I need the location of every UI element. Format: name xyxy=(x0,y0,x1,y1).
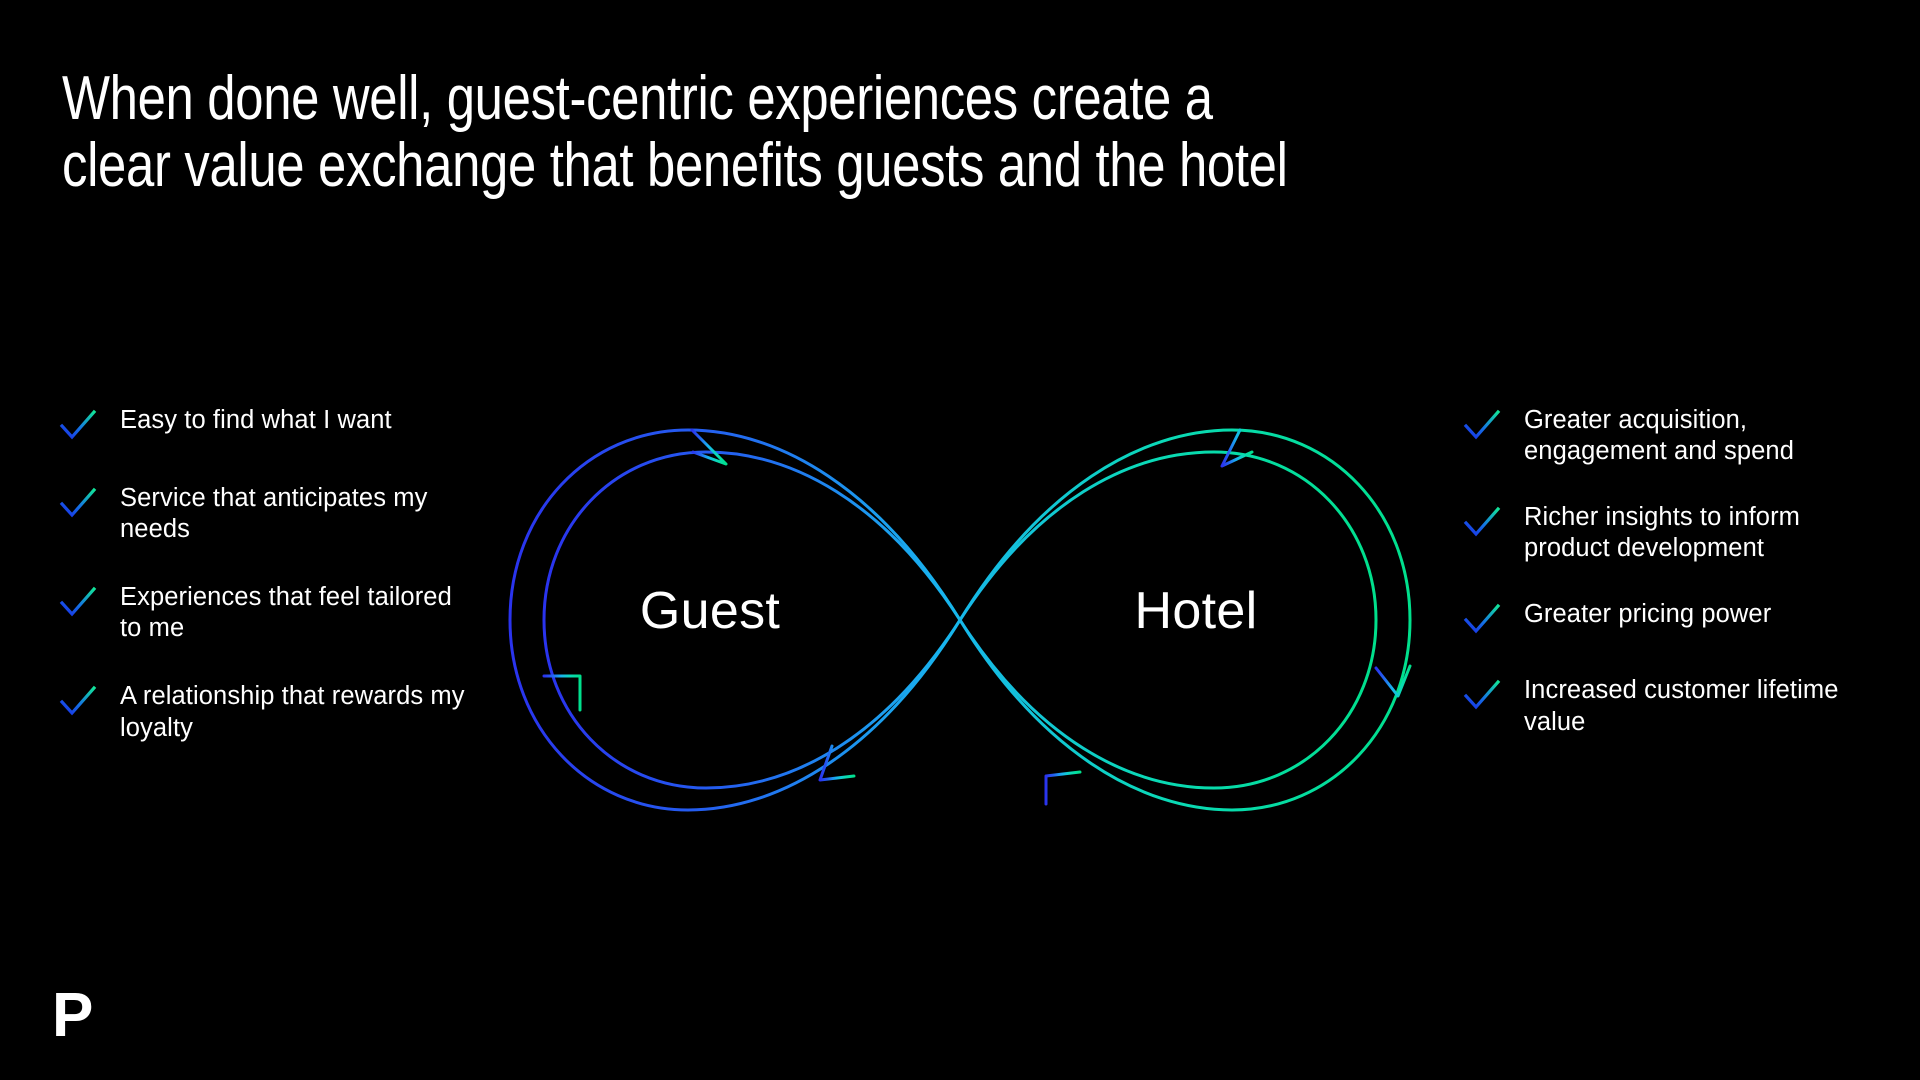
check-icon xyxy=(58,484,98,524)
list-item-label: Greater acquisition, engagement and spen… xyxy=(1524,404,1892,467)
list-item-label: Greater pricing power xyxy=(1524,598,1771,630)
check-icon xyxy=(58,682,98,722)
list-item: Richer insights to inform product develo… xyxy=(1462,501,1892,564)
list-item-label: Experiences that feel tailored to me xyxy=(120,581,478,644)
list-item-label: Richer insights to inform product develo… xyxy=(1524,501,1892,564)
check-icon xyxy=(58,406,98,446)
page-title: When done well, guest-centric experience… xyxy=(62,66,1530,200)
list-item-label: Easy to find what I want xyxy=(120,404,392,436)
loop-label-guest: Guest xyxy=(640,581,780,641)
list-item-label: Increased customer lifetime value xyxy=(1524,674,1892,737)
list-item-label: Service that anticipates my needs xyxy=(120,482,478,545)
infinity-loop-diagram xyxy=(480,390,1440,850)
list-item: Easy to find what I want xyxy=(58,404,478,446)
list-item: A relationship that rewards my loyalty xyxy=(58,680,478,743)
loop-label-hotel: Hotel xyxy=(1135,581,1258,641)
list-item: Greater acquisition, engagement and spen… xyxy=(1462,404,1892,467)
check-icon xyxy=(1462,676,1502,716)
list-item: Greater pricing power xyxy=(1462,598,1892,640)
list-item: Increased customer lifetime value xyxy=(1462,674,1892,737)
check-icon xyxy=(58,583,98,623)
check-icon xyxy=(1462,406,1502,446)
list-item: Service that anticipates my needs xyxy=(58,482,478,545)
check-icon xyxy=(1462,503,1502,543)
hotel-benefits-column: Greater acquisition, engagement and spen… xyxy=(1462,404,1892,772)
slide-root: When done well, guest-centric experience… xyxy=(0,0,1920,1080)
brand-logo: P xyxy=(52,985,92,1047)
check-icon xyxy=(1462,600,1502,640)
guest-benefits-column: Easy to find what I want Service that an… xyxy=(58,404,478,744)
list-item-label: A relationship that rewards my loyalty xyxy=(120,680,478,743)
list-item: Experiences that feel tailored to me xyxy=(58,581,478,644)
